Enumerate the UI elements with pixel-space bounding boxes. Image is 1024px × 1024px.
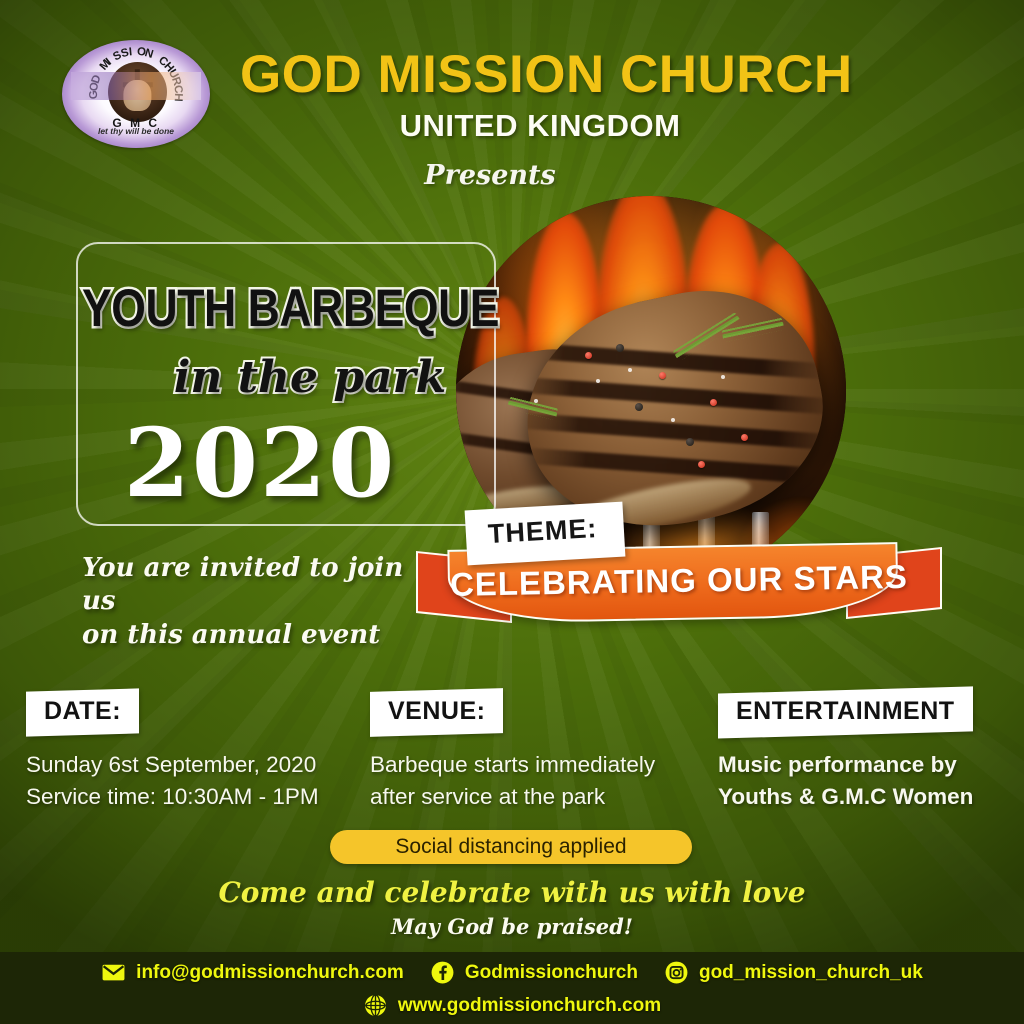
venue-line-2: after service at the park <box>370 781 710 813</box>
social-distancing-badge: Social distancing applied <box>330 830 692 864</box>
salt-grain <box>628 368 632 372</box>
contact-footer: info@godmissionchurch.com Godmissionchur… <box>0 952 1024 1024</box>
event-subhead: in the park <box>130 352 490 403</box>
flyer-poster: GOD MISSION CHURCH G M C let thy will be… <box>0 0 1024 1024</box>
invitation-line-1: You are invited to join us <box>82 552 412 619</box>
logo-oval-badge: GOD MISSION CHURCH G M C let thy will be… <box>62 40 210 148</box>
pink-peppercorn <box>741 434 748 441</box>
footer-email: info@godmissionchurch.com <box>136 962 404 984</box>
footer-instagram: god_mission_church_uk <box>699 962 923 984</box>
detail-column-entertainment: ENTERTAINMENT Music performance by Youth… <box>718 690 1018 813</box>
footer-website: www.godmissionchurch.com <box>398 995 661 1017</box>
pink-peppercorn <box>698 461 705 468</box>
date-line-1: Sunday 6st September, 2020 <box>26 749 366 781</box>
salt-grain <box>534 399 538 403</box>
church-title: GOD MISSION CHURCH <box>240 44 840 105</box>
invitation-line-2: on this annual event <box>82 619 412 652</box>
closing-line-1: Come and celebrate with us with love <box>0 876 1024 909</box>
salt-grain <box>671 418 675 422</box>
entertainment-heading-tag: ENTERTAINMENT <box>718 686 973 738</box>
church-logo: GOD MISSION CHURCH G M C let thy will be… <box>62 40 210 148</box>
facebook-icon <box>430 960 455 985</box>
detail-column-date: DATE: Sunday 6st September, 2020 Service… <box>26 690 366 813</box>
theme-value: CELEBRATING OUR STARS <box>450 558 897 604</box>
date-body: Sunday 6st September, 2020 Service time:… <box>26 749 366 813</box>
footer-row-website: www.godmissionchurch.com <box>0 993 1024 1018</box>
closing-line-2: May God be praised! <box>0 914 1024 939</box>
date-line-2: Service time: 10:30AM - 1PM <box>26 781 366 813</box>
black-peppercorn <box>686 438 694 446</box>
church-subtitle: UNITED KINGDOM <box>240 108 840 144</box>
email-icon <box>101 960 126 985</box>
footer-facebook-item[interactable]: Godmissionchurch <box>430 960 638 985</box>
theme-label-card: THEME: <box>465 502 625 566</box>
pink-peppercorn <box>710 399 717 406</box>
theme-label: THEME: <box>487 513 598 549</box>
venue-body: Barbeque starts immediately after servic… <box>370 749 710 813</box>
footer-instagram-item[interactable]: god_mission_church_uk <box>664 960 923 985</box>
venue-heading: VENUE: <box>388 697 485 726</box>
instagram-icon <box>664 960 689 985</box>
detail-column-venue: VENUE: Barbeque starts immediately after… <box>370 690 710 813</box>
footer-email-item[interactable]: info@godmissionchurch.com <box>101 960 404 985</box>
entertainment-body: Music performance by Youths & G.M.C Wome… <box>718 749 1018 813</box>
footer-row-primary: info@godmissionchurch.com Godmissionchur… <box>0 960 1024 985</box>
footer-website-item[interactable]: www.godmissionchurch.com <box>363 993 661 1018</box>
pink-peppercorn <box>659 372 666 379</box>
event-headline: YOUTH BARBEQUE <box>82 278 418 339</box>
entertainment-heading: ENTERTAINMENT <box>736 697 955 726</box>
event-year: 2020 <box>110 408 410 519</box>
logo-motto: let thy will be done <box>62 126 210 136</box>
presents-label: Presents <box>240 160 740 191</box>
entertainment-line-1: Music performance by <box>718 749 1018 781</box>
globe-icon <box>363 993 388 1018</box>
date-heading: DATE: <box>44 697 121 726</box>
invitation-text: You are invited to join us on this annua… <box>82 552 412 652</box>
date-heading-tag: DATE: <box>26 688 139 736</box>
venue-line-1: Barbeque starts immediately <box>370 749 710 781</box>
footer-facebook: Godmissionchurch <box>465 962 638 984</box>
venue-heading-tag: VENUE: <box>370 688 503 737</box>
pink-peppercorn <box>585 352 592 359</box>
entertainment-line-2: Youths & G.M.C Women <box>718 781 1018 813</box>
